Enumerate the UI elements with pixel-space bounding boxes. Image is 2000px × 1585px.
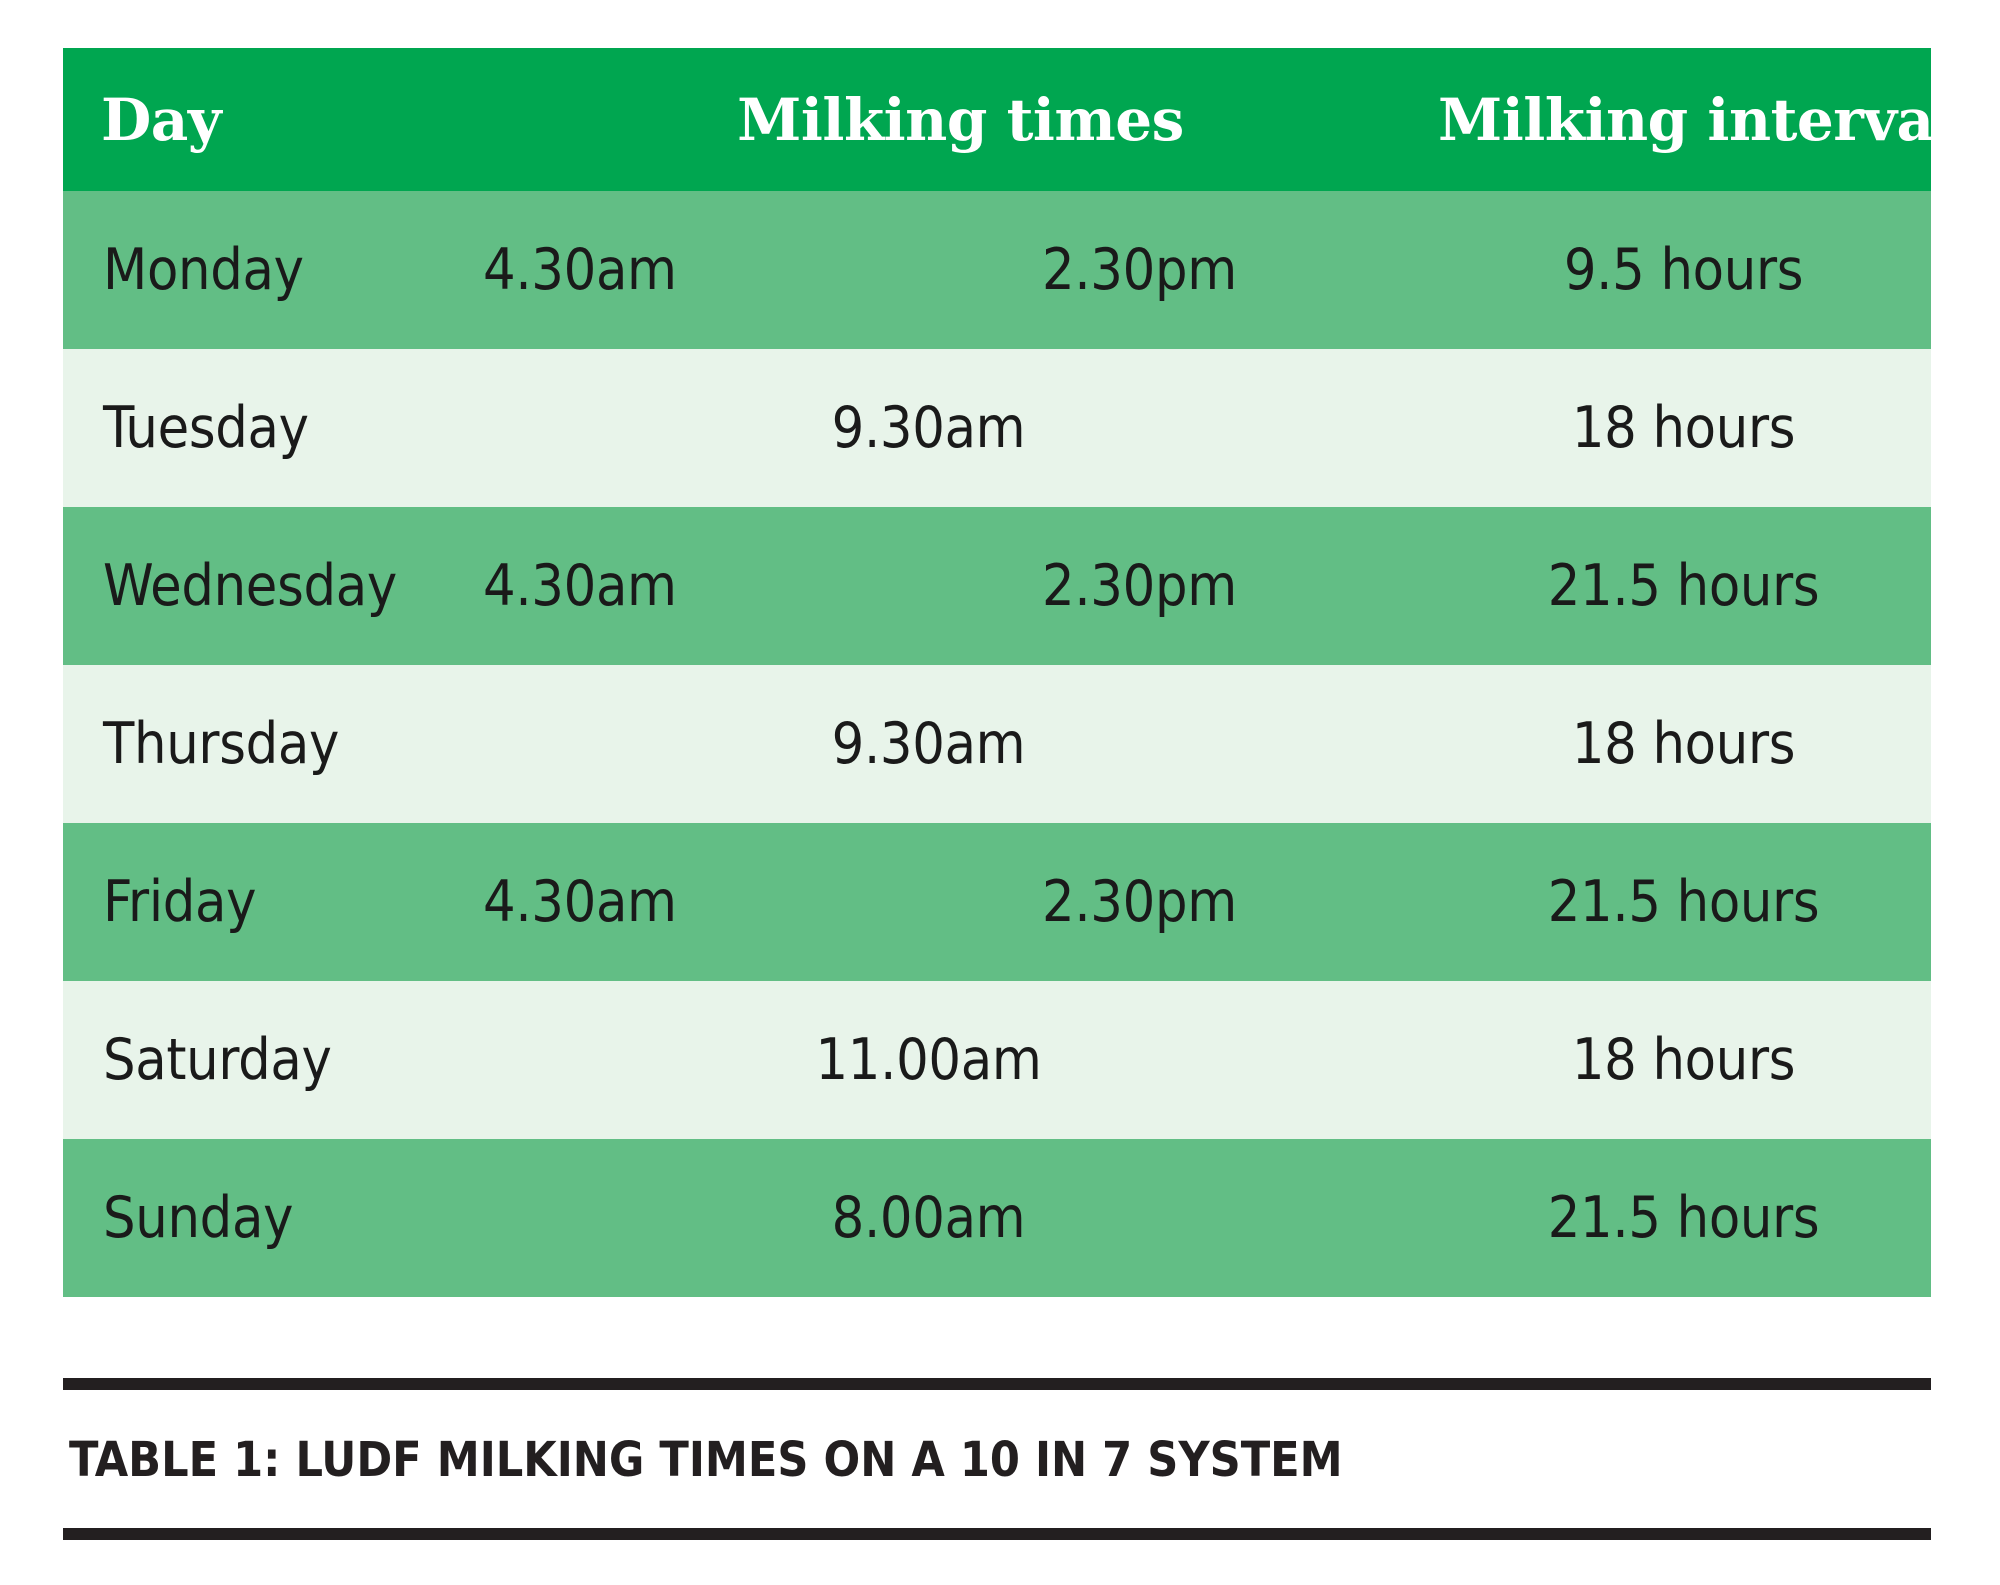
cell-milking-time-second: 2.30pm bbox=[1028, 823, 1438, 981]
column-header-day: Day bbox=[63, 48, 483, 191]
table-row: Sunday8.00am21.5 hours bbox=[63, 1139, 1931, 1297]
cell-milking-time-single: 11.00am bbox=[483, 981, 1438, 1139]
caption-rule-bottom bbox=[63, 1528, 1931, 1540]
cell-milking-time-first: 4.30am bbox=[483, 823, 1028, 981]
cell-milking-time-single: 9.30am bbox=[483, 665, 1438, 823]
table-row: Wednesday4.30am2.30pm21.5 hours bbox=[63, 507, 1931, 665]
table-row: Thursday9.30am18 hours bbox=[63, 665, 1931, 823]
table-caption-block: TABLE 1: LUDF MILKING TIMES ON A 10 IN 7… bbox=[63, 1378, 1931, 1540]
column-header-milking-interval: Milking interval bbox=[1438, 48, 1931, 191]
table-header-row: Day Milking times Milking interval bbox=[63, 48, 1931, 191]
cell-milking-interval: 21.5 hours bbox=[1438, 1139, 1931, 1297]
cell-day: Tuesday bbox=[63, 349, 483, 507]
milking-times-table-container: Day Milking times Milking interval Monda… bbox=[63, 48, 1931, 1297]
table-figure-page: Day Milking times Milking interval Monda… bbox=[0, 0, 2000, 1585]
table-header: Day Milking times Milking interval bbox=[63, 48, 1931, 191]
table-caption-text: TABLE 1: LUDF MILKING TIMES ON A 10 IN 7… bbox=[63, 1390, 1931, 1528]
table-row: Friday4.30am2.30pm21.5 hours bbox=[63, 823, 1931, 981]
table-row: Tuesday9.30am18 hours bbox=[63, 349, 1931, 507]
table-body: Monday4.30am2.30pm9.5 hoursTuesday9.30am… bbox=[63, 191, 1931, 1297]
cell-milking-time-single: 8.00am bbox=[483, 1139, 1438, 1297]
table-row: Saturday11.00am18 hours bbox=[63, 981, 1931, 1139]
cell-milking-interval: 18 hours bbox=[1438, 349, 1931, 507]
cell-milking-time-single: 9.30am bbox=[483, 349, 1438, 507]
cell-milking-interval: 21.5 hours bbox=[1438, 823, 1931, 981]
cell-day: Thursday bbox=[63, 665, 483, 823]
cell-milking-time-first: 4.30am bbox=[483, 191, 1028, 349]
column-header-milking-times: Milking times bbox=[483, 48, 1438, 191]
cell-milking-time-second: 2.30pm bbox=[1028, 507, 1438, 665]
cell-day: Saturday bbox=[63, 981, 483, 1139]
caption-rule-top bbox=[63, 1378, 1931, 1390]
cell-day: Sunday bbox=[63, 1139, 483, 1297]
cell-milking-interval: 18 hours bbox=[1438, 981, 1931, 1139]
cell-milking-time-first: 4.30am bbox=[483, 507, 1028, 665]
cell-day: Friday bbox=[63, 823, 483, 981]
cell-milking-interval: 21.5 hours bbox=[1438, 507, 1931, 665]
milking-times-table: Day Milking times Milking interval Monda… bbox=[63, 48, 1931, 1297]
cell-milking-time-second: 2.30pm bbox=[1028, 191, 1438, 349]
cell-day: Wednesday bbox=[63, 507, 483, 665]
cell-milking-interval: 18 hours bbox=[1438, 665, 1931, 823]
table-row: Monday4.30am2.30pm9.5 hours bbox=[63, 191, 1931, 349]
cell-milking-interval: 9.5 hours bbox=[1438, 191, 1931, 349]
cell-day: Monday bbox=[63, 191, 483, 349]
